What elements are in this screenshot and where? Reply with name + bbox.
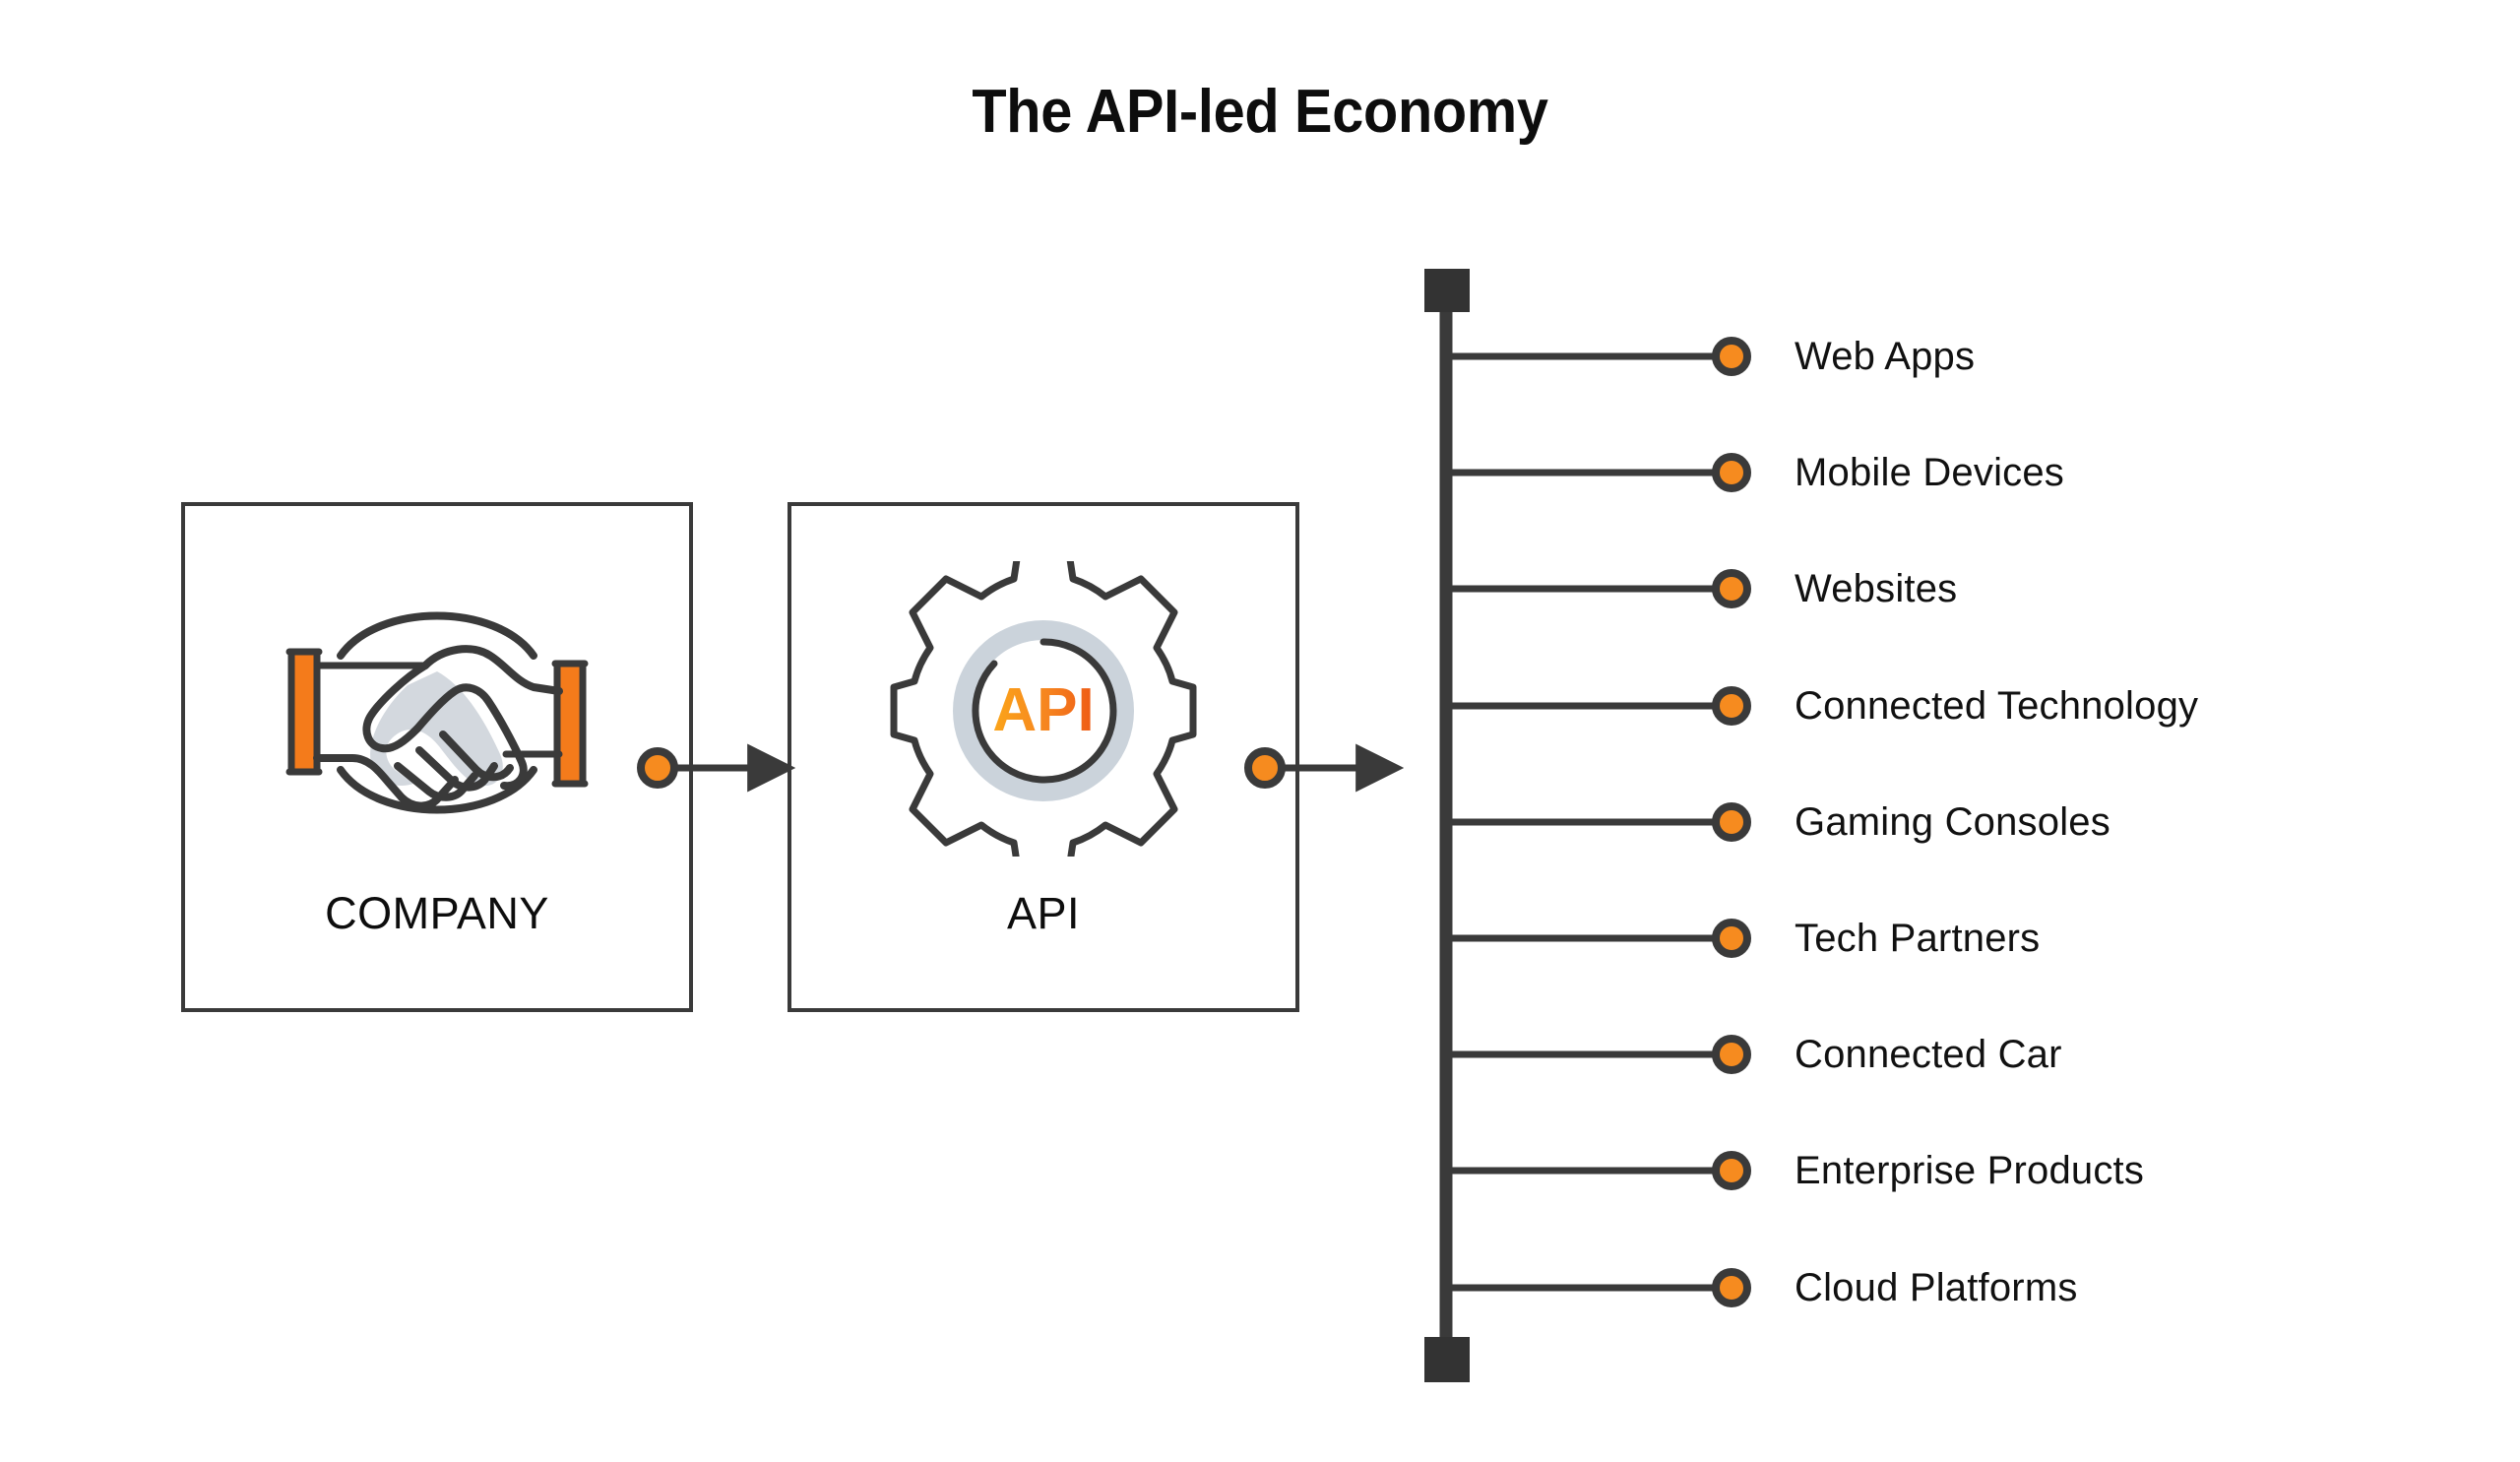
channel-item-label[interactable]: Web Apps [1795, 337, 1975, 376]
channel-bar-cap-top [1424, 269, 1470, 312]
channel-spokes [1446, 341, 1747, 1303]
channel-dot-icon[interactable] [1716, 341, 1747, 372]
channel-item-label[interactable]: Cloud Platforms [1795, 1268, 2078, 1307]
diagram-canvas: The API-led Economy [0, 0, 2520, 1462]
channel-item-label[interactable]: Enterprise Products [1795, 1151, 2144, 1190]
channel-item-label[interactable]: Mobile Devices [1795, 453, 2064, 492]
channel-item-label[interactable]: Connected Car [1795, 1035, 2062, 1074]
flow-node-company[interactable]: COMPANY [181, 502, 693, 1012]
channel-dot-icon[interactable] [1716, 457, 1747, 488]
channel-dot-icon[interactable] [1716, 806, 1747, 838]
flow-node-api[interactable]: API API [787, 502, 1299, 1012]
channel-dot-icon[interactable] [1716, 1155, 1747, 1186]
channel-item-label[interactable]: Connected Technology [1795, 686, 2198, 726]
gear-icon-api-text: API [992, 676, 1094, 744]
channel-dot-icon[interactable] [1716, 1039, 1747, 1070]
channel-bar-cap-bottom [1424, 1337, 1470, 1382]
channel-item-label[interactable]: Gaming Consoles [1795, 802, 2110, 842]
channel-item-label[interactable]: Websites [1795, 569, 1957, 608]
channel-dot-icon[interactable] [1716, 922, 1747, 954]
flow-node-company-label: COMPANY [185, 888, 689, 939]
page-title: The API-led Economy [89, 77, 2432, 147]
channel-item-label[interactable]: Tech Partners [1795, 919, 2040, 958]
gear-icon: API [886, 561, 1201, 861]
channel-dot-icon[interactable] [1716, 573, 1747, 604]
channel-bar [1424, 269, 1470, 1382]
flow-node-api-label: API [791, 888, 1295, 939]
channel-dot-icon[interactable] [1716, 690, 1747, 722]
channel-dot-icon[interactable] [1716, 1272, 1747, 1303]
handshake-icon [280, 561, 595, 861]
